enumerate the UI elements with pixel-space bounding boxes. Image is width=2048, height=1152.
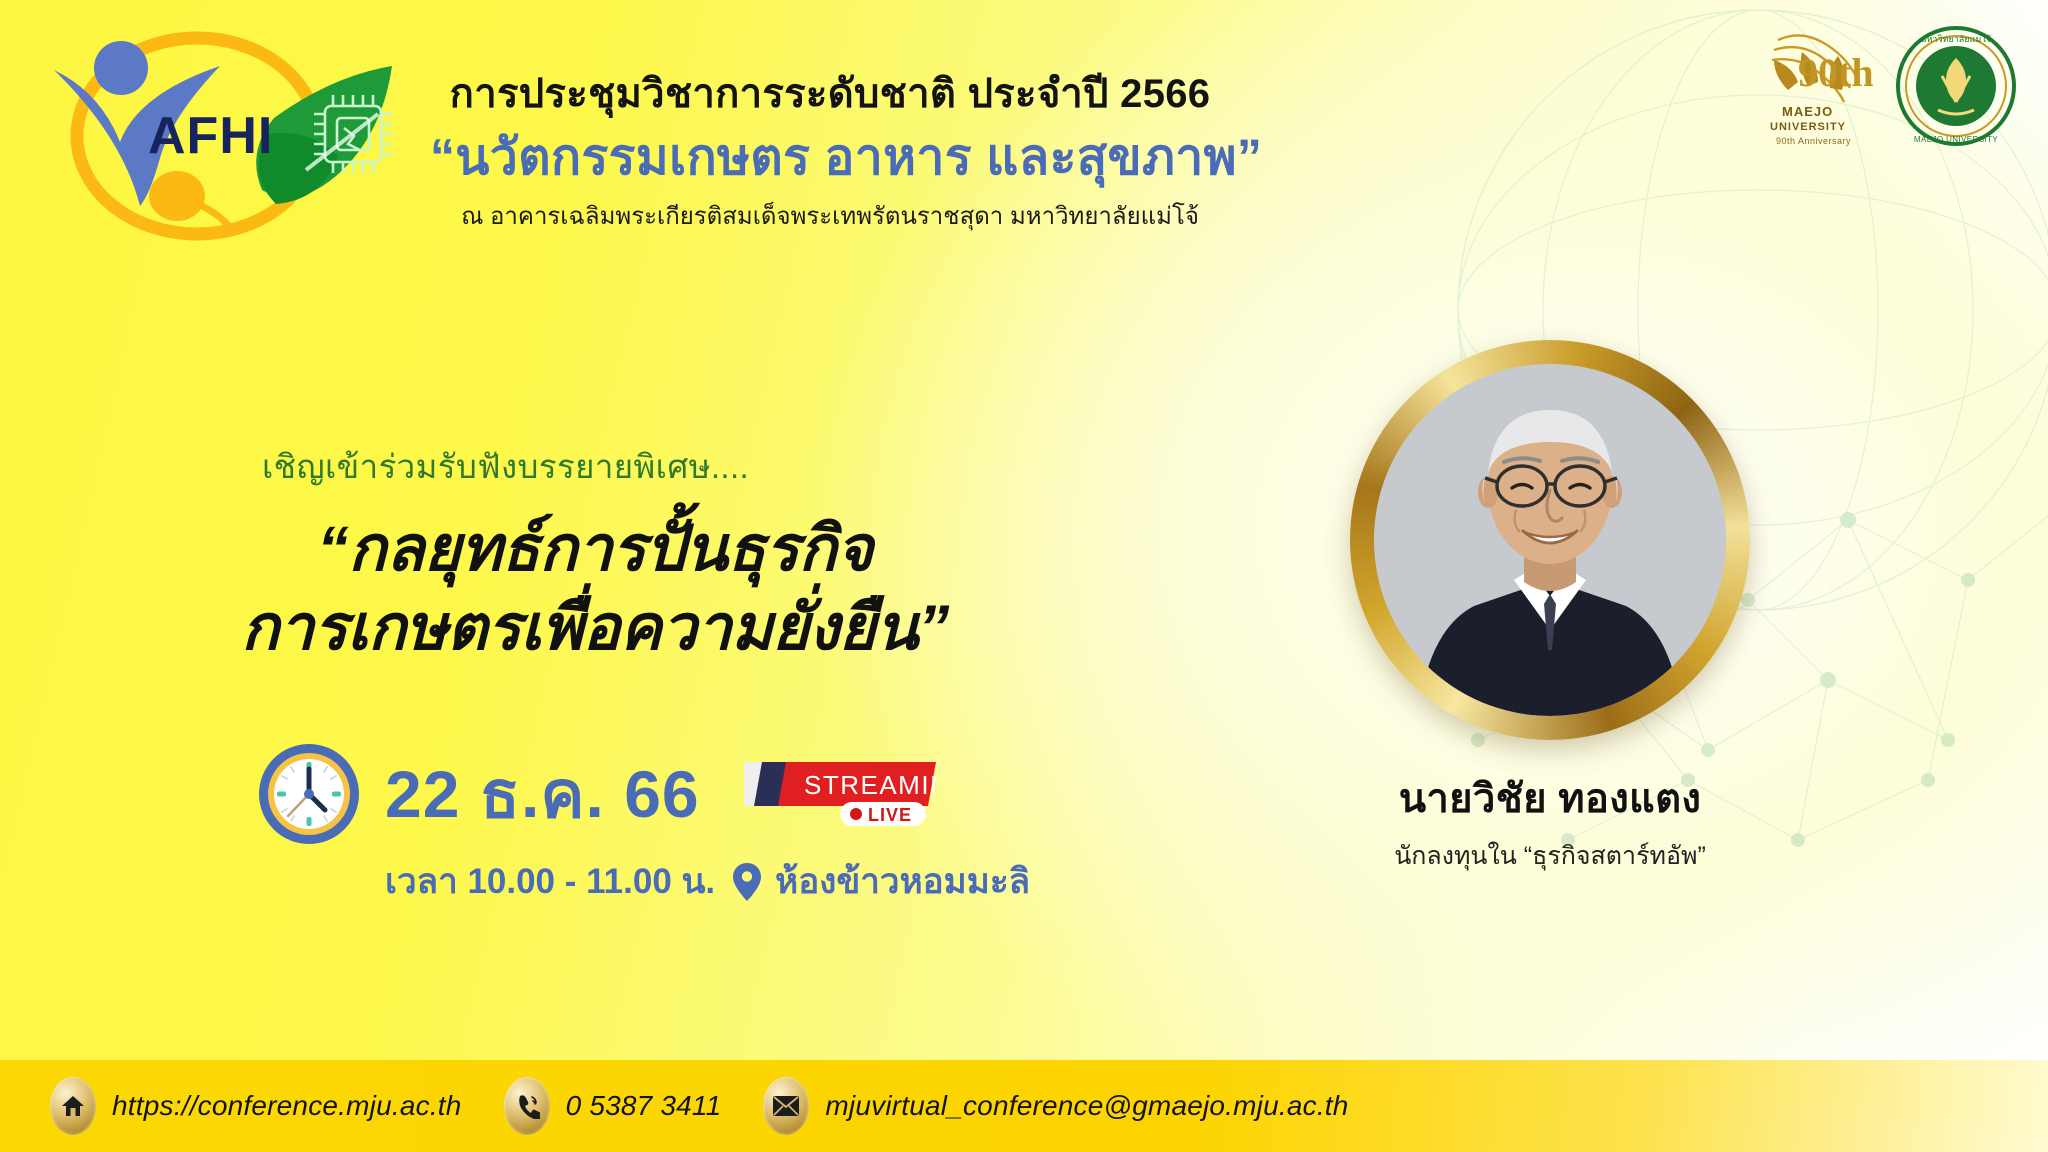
seal-english-text: MAEJO UNIVERSITY [1914, 135, 1998, 144]
email-address[interactable]: mjuvirtual_conference@gmaejo.mju.ac.th [825, 1090, 1348, 1122]
maejo-word-1: MAEJO [1782, 104, 1833, 119]
conference-poster: AFHI การประชุมวิชาการระดับชาติ ประจำปี 2… [0, 0, 2048, 1152]
anniversary-mark: 90th [1798, 50, 1874, 95]
maejo-university-seal: มหาวิทยาลัยแม่โจ้ MAEJO UNIVERSITY [1894, 24, 2018, 150]
contact-footer: https://conference.mju.ac.th 0 5387 3411… [0, 1060, 2048, 1152]
conference-theme: “นวัตกรรมเกษตร อาหาร และสุขภาพ” [430, 126, 1230, 189]
email-icon [763, 1077, 809, 1135]
event-time: เวลา 10.00 - 11.00 น. [385, 854, 715, 909]
speaker-name: นายวิชัย ทองแตง [1340, 766, 1760, 830]
maejo-90th-anniversary-logo: 90th MAEJO UNIVERSITY 90th Anniversary [1758, 24, 1876, 156]
location-pin-icon [733, 863, 761, 901]
website-url[interactable]: https://conference.mju.ac.th [112, 1090, 462, 1122]
conference-heading: การประชุมวิชาการระดับชาติ ประจำปี 2566 [430, 70, 1230, 120]
conference-venue: ณ อาคารเฉลิมพระเกียรติสมเด็จพระเทพรัตนรา… [430, 201, 1230, 232]
maejo-word-3: 90th Anniversary [1776, 136, 1851, 146]
date-time-block: 22 ธ.ค. 66 STREAMING LIVE เวลา 10.00 - 1… [255, 740, 1015, 909]
streaming-label: STREAMING [804, 770, 936, 800]
footer-item-email[interactable]: mjuvirtual_conference@gmaejo.mju.ac.th [763, 1077, 1348, 1135]
afhi-wordmark: AFHI [148, 107, 273, 165]
lecture-title-line-2: การเกษตรเพื่อความยั่งยืน” [150, 589, 1040, 668]
speaker-role: นักลงทุนใน “ธุรกิจสตาร์ทอัพ” [1340, 836, 1760, 876]
streaming-live-badge: STREAMING LIVE [744, 754, 936, 828]
live-label: LIVE [868, 805, 912, 825]
home-icon [50, 1077, 96, 1135]
footer-item-website[interactable]: https://conference.mju.ac.th [50, 1077, 462, 1135]
phone-number[interactable]: 0 5387 3411 [566, 1090, 722, 1122]
clock-icon [255, 740, 363, 848]
time-location-row: เวลา 10.00 - 11.00 น. ห้องข้าวหอมมะลิ [385, 854, 1015, 909]
university-logos: 90th MAEJO UNIVERSITY 90th Anniversary ม… [1758, 24, 2018, 156]
speaker-block: นายวิชัย ทองแตง นักลงทุนใน “ธุรกิจสตาร์ท… [1340, 340, 1760, 876]
maejo-word-2: UNIVERSITY [1770, 121, 1846, 133]
phone-icon [504, 1077, 550, 1135]
footer-item-phone[interactable]: 0 5387 3411 [504, 1077, 722, 1135]
event-date: 22 ธ.ค. 66 [385, 742, 700, 847]
afhi-logo: AFHI [22, 18, 422, 248]
lecture-title: “กลยุทธ์การปั้นธุรกิจ การเกษตรเพื่อความย… [150, 510, 1040, 669]
invite-text: เชิญเข้าร่วมรับฟังบรรยายพิเศษ.... [262, 440, 749, 493]
header-text-block: การประชุมวิชาการระดับชาติ ประจำปี 2566 “… [430, 70, 1230, 232]
speaker-photo-frame [1350, 340, 1750, 740]
speaker-photo [1374, 364, 1726, 716]
event-room: ห้องข้าวหอมมะลิ [775, 854, 1030, 909]
date-row: 22 ธ.ค. 66 STREAMING LIVE [255, 740, 1015, 848]
seal-thai-text: มหาวิทยาลัยแม่โจ้ [1921, 34, 1992, 44]
lecture-title-line-1: “กลยุทธ์การปั้นธุรกิจ [150, 510, 1040, 589]
